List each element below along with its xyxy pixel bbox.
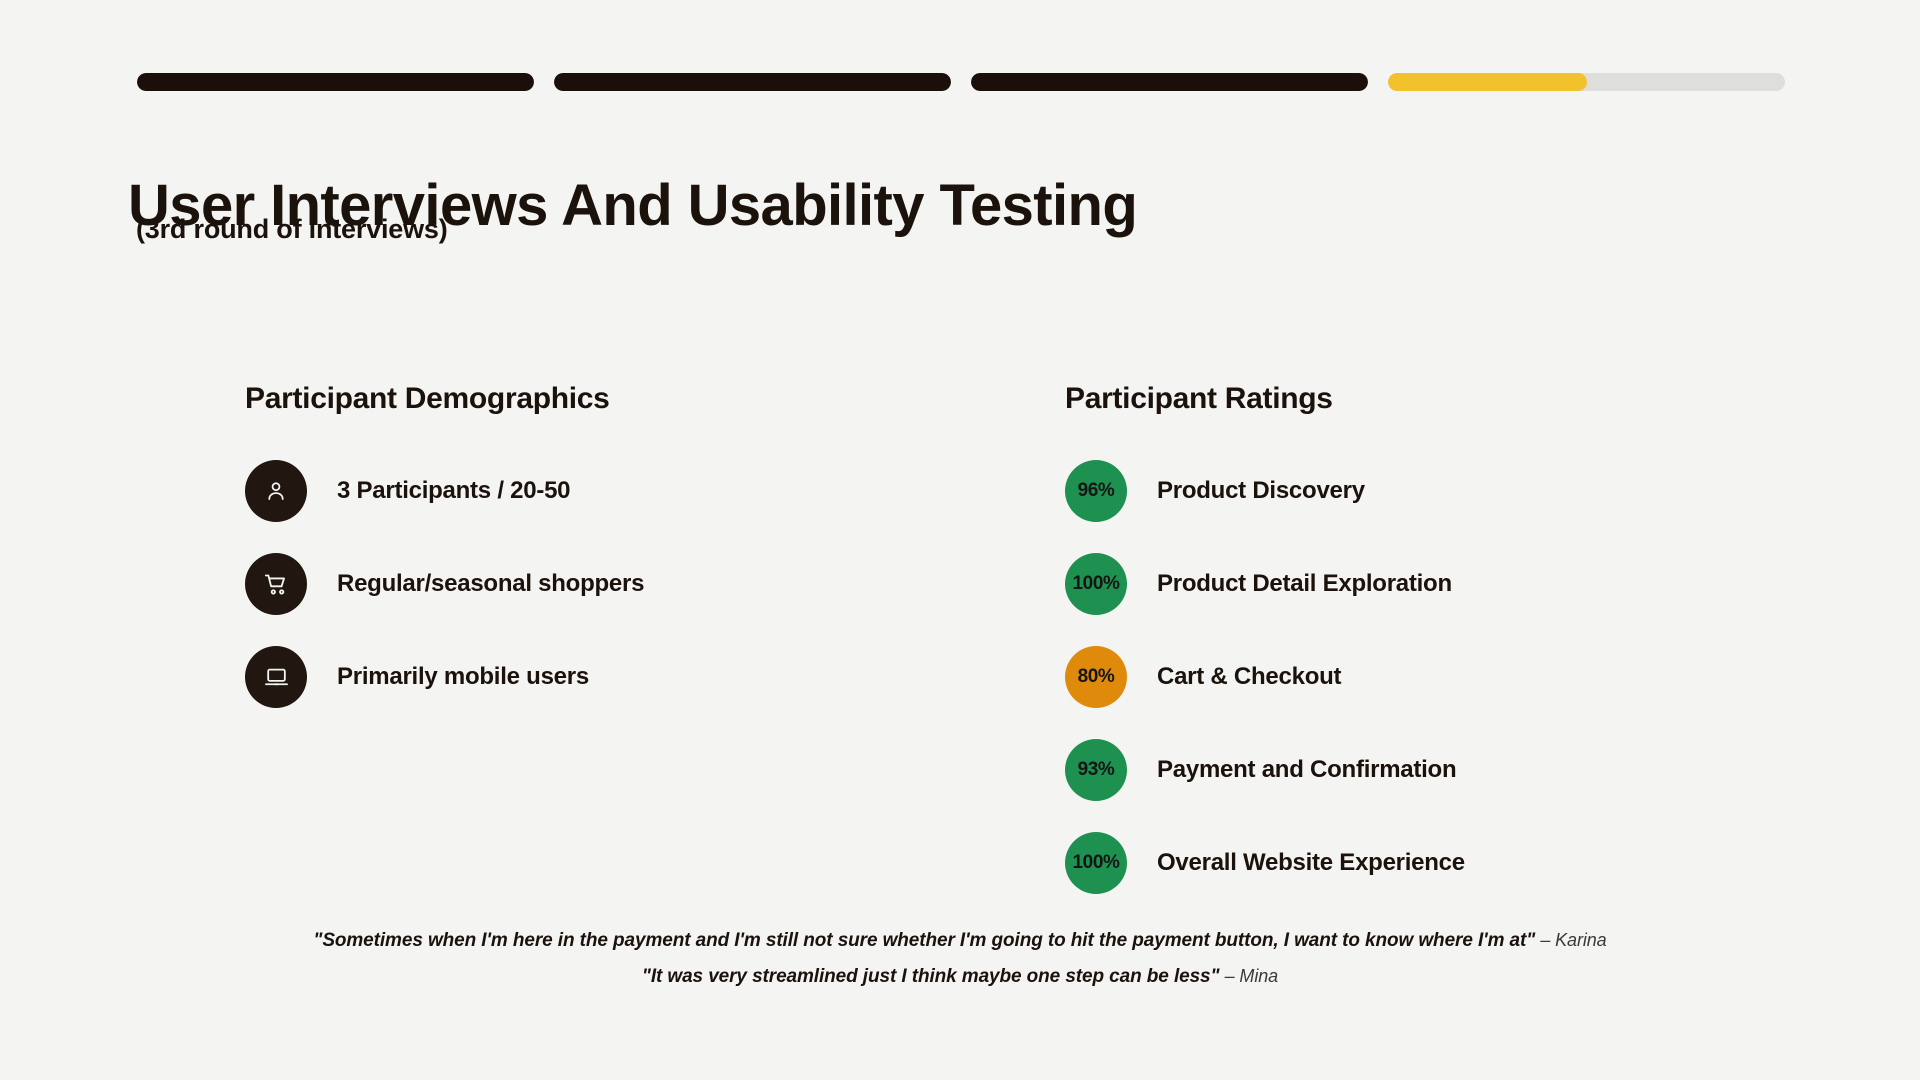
participant-ratings-section: Participant Ratings 96% Product Discover… xyxy=(1065,382,1465,894)
list-item-label: Product Discovery xyxy=(1151,477,1365,505)
quote-2: "It was very streamlined just I think ma… xyxy=(0,966,1920,988)
list-item: 93% Payment and Confirmation xyxy=(1065,739,1465,801)
list-item: 100% Overall Website Experience xyxy=(1065,832,1465,894)
ratings-list: 96% Product Discovery 100% Product Detai… xyxy=(1065,460,1465,894)
list-item-label: Cart & Checkout xyxy=(1151,663,1341,691)
rating-badge: 93% xyxy=(1065,739,1127,801)
rating-badge: 80% xyxy=(1065,646,1127,708)
demographics-list: 3 Participants / 20-50 Regular/seasonal … xyxy=(245,460,644,708)
list-item-label: Regular/seasonal shoppers xyxy=(331,570,644,598)
quote-2-attribution: – Mina xyxy=(1225,966,1278,986)
list-item-label: Primarily mobile users xyxy=(331,663,589,691)
list-item-label: 3 Participants / 20-50 xyxy=(331,477,570,505)
demographics-title: Participant Demographics xyxy=(245,382,644,416)
participant-demographics-section: Participant Demographics 3 Participants … xyxy=(245,382,644,708)
laptop-icon xyxy=(245,646,307,708)
quote-1-attribution: – Karina xyxy=(1540,930,1606,950)
ratings-title: Participant Ratings xyxy=(1065,382,1465,416)
progress-segment-2[interactable] xyxy=(554,73,951,91)
progress-segment-3-fill xyxy=(971,73,1368,91)
progress-indicator xyxy=(137,73,1785,91)
quote-2-text: "It was very streamlined just I think ma… xyxy=(642,966,1220,987)
quote-1-text: "Sometimes when I'm here in the payment … xyxy=(313,930,1535,951)
list-item: 3 Participants / 20-50 xyxy=(245,460,644,522)
participant-quotes: "Sometimes when I'm here in the payment … xyxy=(0,930,1920,1002)
progress-segment-1[interactable] xyxy=(137,73,534,91)
rating-badge: 96% xyxy=(1065,460,1127,522)
list-item: 96% Product Discovery xyxy=(1065,460,1465,522)
list-item: 80% Cart & Checkout xyxy=(1065,646,1465,708)
rating-badge: 100% xyxy=(1065,553,1127,615)
list-item-label: Payment and Confirmation xyxy=(1151,756,1456,784)
list-item: Regular/seasonal shoppers xyxy=(245,553,644,615)
quote-1: "Sometimes when I'm here in the payment … xyxy=(0,930,1920,952)
progress-segment-3[interactable] xyxy=(971,73,1368,91)
list-item-label: Overall Website Experience xyxy=(1151,849,1465,877)
progress-segment-1-fill xyxy=(137,73,534,91)
list-item: Primarily mobile users xyxy=(245,646,644,708)
list-item-label: Product Detail Exploration xyxy=(1151,570,1452,598)
shopping-cart-icon xyxy=(245,553,307,615)
progress-segment-4[interactable] xyxy=(1388,73,1785,91)
page-subtitle: (3rd round of interviews) xyxy=(136,214,448,245)
progress-segment-2-fill xyxy=(554,73,951,91)
person-icon xyxy=(245,460,307,522)
rating-badge: 100% xyxy=(1065,832,1127,894)
progress-segment-4-fill xyxy=(1388,73,1587,91)
list-item: 100% Product Detail Exploration xyxy=(1065,553,1465,615)
